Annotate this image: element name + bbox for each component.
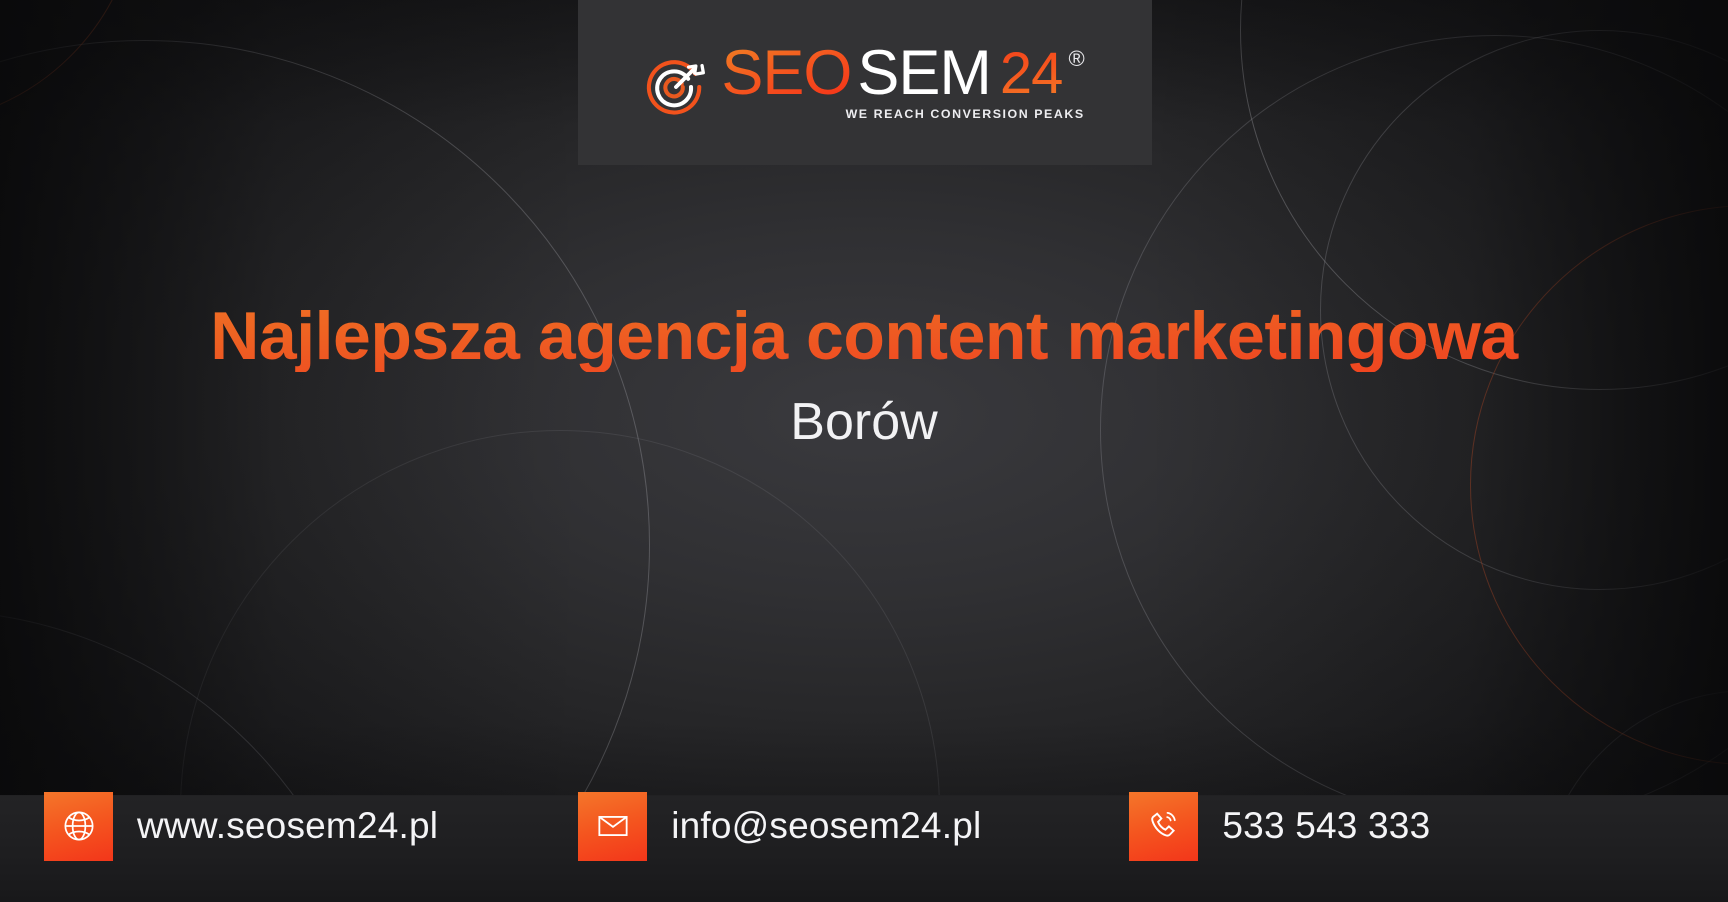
email-address-label: info@seosem24.pl — [671, 805, 981, 847]
logo-24-text: 24 — [1000, 44, 1063, 103]
contact-website[interactable]: www.seosem24.pl — [44, 792, 438, 861]
website-url-label: www.seosem24.pl — [137, 805, 438, 847]
globe-icon — [44, 792, 113, 861]
logo-panel: SEO SEM 24 ® WE REACH CONVERSION PEAKS — [578, 0, 1152, 165]
contact-email[interactable]: info@seosem24.pl — [578, 792, 981, 861]
contact-bar: www.seosem24.pl info@seosem24.pl 533 543… — [0, 772, 1728, 902]
page-title: Najlepsza agencja content marketingowa — [0, 300, 1728, 372]
contact-phone[interactable]: 533 543 333 — [1129, 792, 1430, 861]
hero-text-block: Najlepsza agencja content marketingowa B… — [0, 300, 1728, 451]
logo-sem-text: SEM — [857, 44, 991, 104]
logo-seo-text: SEO — [721, 44, 851, 104]
logo-wordmark: SEO SEM 24 ® WE REACH CONVERSION PEAKS — [721, 44, 1084, 121]
page-subtitle: Borów — [0, 394, 1728, 451]
slide-canvas: SEO SEM 24 ® WE REACH CONVERSION PEAKS N… — [0, 0, 1728, 902]
registered-trademark-icon: ® — [1068, 48, 1084, 70]
decorative-circle-orange-right — [1470, 205, 1728, 765]
brand-logo[interactable]: SEO SEM 24 ® WE REACH CONVERSION PEAKS — [645, 44, 1084, 121]
envelope-icon — [578, 792, 647, 861]
target-arrow-icon — [645, 56, 707, 118]
phone-ring-icon — [1129, 792, 1198, 861]
decorative-circle-orange-top-left — [0, 0, 140, 125]
phone-number-label: 533 543 333 — [1222, 805, 1430, 847]
logo-tagline: WE REACH CONVERSION PEAKS — [723, 107, 1084, 121]
